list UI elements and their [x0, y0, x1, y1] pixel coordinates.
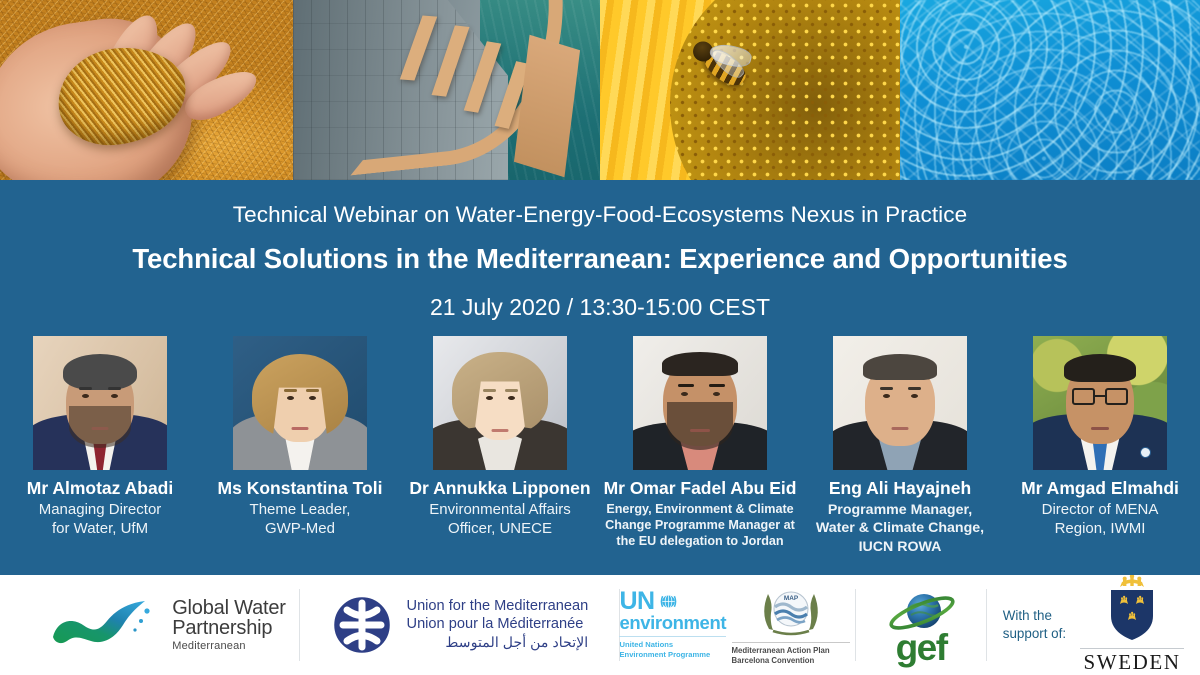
speaker-name: Mr Omar Fadel Abu Eid	[604, 478, 797, 499]
dam-photo	[293, 0, 600, 180]
water-ripples-photo	[900, 0, 1200, 180]
ufm-logo: Union for the Mediterranean Union pour l…	[300, 575, 619, 675]
gwp-wave-icon	[49, 597, 161, 653]
speaker-role: Director of MENA Region, IWMI	[1002, 501, 1198, 539]
partner-logos-footer: Global Water Partnership Mediterranean U…	[0, 575, 1200, 675]
gwp-line1: Global Water	[172, 598, 286, 618]
grain-in-hand-photo	[0, 0, 293, 180]
un-mark: UN	[619, 590, 654, 613]
support-line1: With the	[1003, 607, 1066, 625]
speaker-card: Ms Konstantina Toli Theme Leader, GWP-Me…	[200, 336, 400, 556]
sweden-support-logo: With the support of:	[987, 575, 1200, 675]
gef-wordmark: gef	[896, 635, 947, 662]
map-emblem-label: MAP	[783, 595, 798, 602]
speaker-name: Mr Amgad Elmahdi	[1021, 478, 1179, 499]
avatar	[233, 336, 367, 470]
map-sub2: Barcelona Convention	[732, 656, 850, 666]
page-title: Technical Solutions in the Mediterranean…	[0, 243, 1200, 275]
un-environment-logo: UN environment United Nations Environmen…	[620, 575, 726, 675]
gwp-line2: Partnership	[172, 618, 286, 638]
un-wordmark: environment	[619, 614, 726, 633]
ufm-line-en: Union for the Mediterranean	[407, 598, 589, 616]
speaker-card: Eng Ali Hayajneh Programme Manager, Wate…	[800, 336, 1000, 556]
divider	[732, 642, 850, 643]
speaker-role: Managing Director for Water, UfM	[2, 501, 198, 539]
map-emblem-icon: MAP	[759, 585, 823, 637]
gwp-line3: Mediterranean	[172, 641, 286, 652]
speaker-card: Mr Omar Fadel Abu Eid Energy, Environmen…	[600, 336, 800, 556]
divider	[1080, 648, 1184, 649]
speaker-name: Mr Almotaz Abadi	[27, 478, 174, 499]
webinar-poster: Technical Webinar on Water-Energy-Food-E…	[0, 0, 1200, 675]
ufm-line-fr: Union pour la Méditerranée	[407, 616, 589, 634]
support-line2: support of:	[1003, 625, 1066, 643]
event-datetime: 21 July 2020 / 13:30-15:00 CEST	[0, 294, 1200, 321]
speaker-name: Eng Ali Hayajneh	[829, 478, 971, 499]
sunflower-disc	[670, 0, 900, 180]
ufm-emblem-icon	[331, 594, 393, 656]
un-globe-wreath-icon	[658, 591, 679, 612]
speaker-role: Environmental Affairs Officer, UNECE	[402, 501, 598, 539]
gwp-med-logo: Global Water Partnership Mediterranean	[0, 575, 299, 675]
webinar-kicker: Technical Webinar on Water-Energy-Food-E…	[0, 202, 1200, 228]
bee-on-sunflower-photo	[600, 0, 900, 180]
gef-logo: gef	[856, 575, 986, 675]
avatar	[633, 336, 767, 470]
speaker-card: Mr Amgad Elmahdi Director of MENA Region…	[1000, 336, 1200, 556]
sweden-crest-icon	[1099, 575, 1165, 645]
avatar	[833, 336, 967, 470]
sweden-wordmark: SWEDEN	[1084, 650, 1181, 675]
avatar	[33, 336, 167, 470]
speaker-role: Theme Leader, GWP-Med	[202, 501, 398, 539]
speaker-role: Energy, Environment & Climate Change Pro…	[602, 501, 798, 550]
un-sub1: United Nations	[619, 640, 726, 650]
un-sub2: Environment Programme	[619, 650, 726, 660]
map-sub1: Mediterranean Action Plan	[732, 646, 850, 656]
speaker-row: Mr Almotaz Abadi Managing Director for W…	[0, 336, 1200, 556]
water-ripples	[900, 0, 1200, 180]
map-barcelona-convention-logo: MAP Mediterranean Action Plan Barcelona …	[726, 575, 856, 675]
avatar	[1033, 336, 1167, 470]
ufm-line-ar: الإتحاد من أجل المتوسط	[407, 635, 589, 652]
photo-strip	[0, 0, 1200, 180]
speaker-role: Programme Manager, Water & Climate Chang…	[802, 501, 998, 556]
speaker-name: Dr Annukka Lipponen	[409, 478, 590, 499]
support-label: With the support of:	[1003, 607, 1066, 643]
avatar	[433, 336, 567, 470]
speaker-card: Mr Almotaz Abadi Managing Director for W…	[0, 336, 200, 556]
divider	[619, 636, 726, 637]
speaker-card: Dr Annukka Lipponen Environmental Affair…	[400, 336, 600, 556]
title-block: Technical Webinar on Water-Energy-Food-E…	[0, 180, 1200, 321]
speaker-name: Ms Konstantina Toli	[218, 478, 383, 499]
